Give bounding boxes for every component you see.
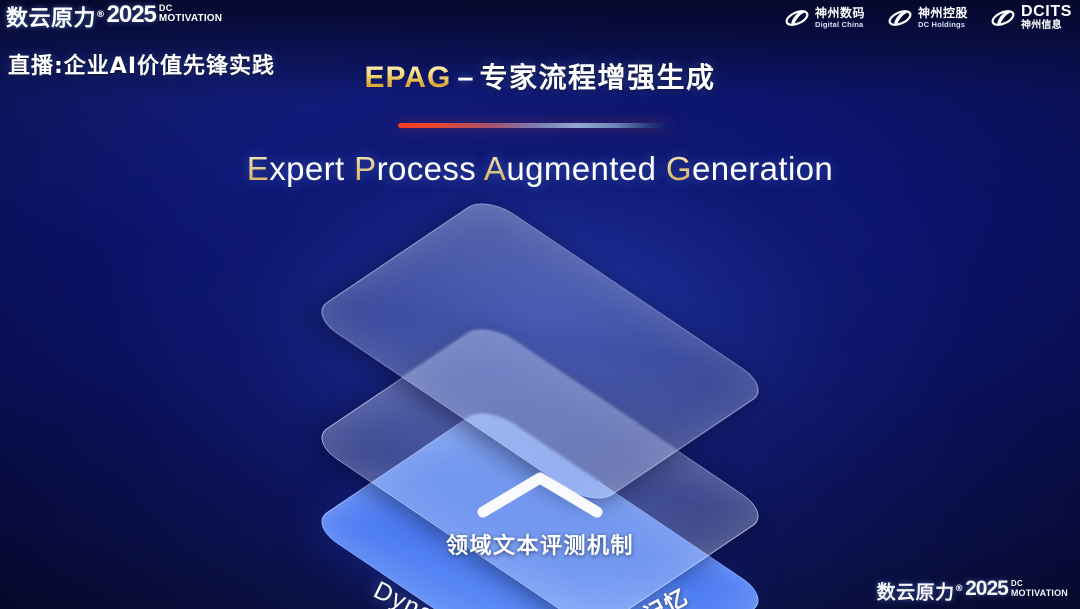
brand-dc: DC bbox=[1011, 580, 1068, 588]
layered-architecture-diagram: 领域文本评测机制 Dynamic MOE 长文本记忆 三类语义建模模块 bbox=[0, 196, 1080, 596]
title-acronym: EPAG bbox=[365, 61, 452, 94]
partner-label: 神州数码 Digital China bbox=[815, 7, 865, 29]
brand-dc: DC bbox=[159, 4, 222, 13]
registered-mark: ® bbox=[955, 584, 965, 594]
partner-label: 神州控股 DC Holdings bbox=[918, 7, 968, 29]
partner-name-en: Digital China bbox=[815, 21, 865, 29]
subtitle-part-5: ugmented bbox=[506, 150, 666, 187]
registered-mark: ® bbox=[96, 10, 106, 20]
brand-name-cn: 数云原力® bbox=[877, 578, 965, 603]
swirl-icon bbox=[784, 6, 810, 30]
brand-year: 2025 bbox=[107, 2, 156, 28]
partner-logo-group: 神州数码 Digital China 神州控股 DC Holdings bbox=[784, 4, 1072, 31]
brand-motivation: MOTIVATION bbox=[1011, 588, 1068, 598]
partner-name-en: DC Holdings bbox=[918, 21, 968, 29]
title-divider bbox=[398, 123, 670, 128]
title-dash: – bbox=[457, 62, 473, 94]
brand-motivation: MOTIVATION bbox=[159, 13, 222, 24]
brand-name-cn: 数云原力® bbox=[6, 2, 106, 32]
slide-canvas: 数云原力® 2025 DC MOTIVATION 直播:企业AI价值先锋实践 神… bbox=[0, 0, 1080, 609]
chevron-up-icon bbox=[475, 468, 605, 520]
subtitle-part-0: E bbox=[247, 150, 269, 187]
page-title: EPAG–专家流程增强生成 bbox=[0, 56, 1080, 96]
swirl-icon bbox=[887, 6, 913, 30]
partner-logo-dcits: DCITS 神州信息 bbox=[990, 4, 1072, 31]
partner-label: DCITS 神州信息 bbox=[1021, 4, 1072, 31]
partner-logo-dc-holdings: 神州控股 DC Holdings bbox=[887, 6, 968, 30]
brand-logo-bottomright: 数云原力® 2025 DC MOTIVATION bbox=[877, 578, 1068, 603]
subtitle-part-2: P bbox=[354, 150, 376, 187]
subtitle-part-7: eneration bbox=[692, 150, 833, 187]
subtitle-part-6: G bbox=[666, 150, 692, 187]
subtitle-part-1: xpert bbox=[269, 150, 354, 187]
partner-logo-digital-china: 神州数码 Digital China bbox=[784, 6, 865, 30]
brand-logo-topleft: 数云原力® 2025 DC MOTIVATION bbox=[6, 2, 222, 32]
subtitle-part-4: A bbox=[484, 150, 506, 187]
title-chinese: 专家流程增强生成 bbox=[479, 61, 715, 94]
swirl-icon bbox=[990, 6, 1016, 30]
page-subtitle: Expert Process Augmented Generation bbox=[0, 150, 1080, 188]
brand-dc-motivation: DC MOTIVATION bbox=[1011, 580, 1068, 598]
partner-name-cn: 神州控股 bbox=[918, 7, 968, 19]
subtitle-part-3: rocess bbox=[377, 150, 484, 187]
brand-dc-motivation: DC MOTIVATION bbox=[159, 4, 222, 24]
partner-name-cn: 神州数码 bbox=[815, 7, 865, 19]
brand-year: 2025 bbox=[965, 578, 1008, 600]
partner-name-cn: 神州信息 bbox=[1021, 21, 1072, 31]
partner-name-en: DCITS bbox=[1021, 4, 1072, 20]
